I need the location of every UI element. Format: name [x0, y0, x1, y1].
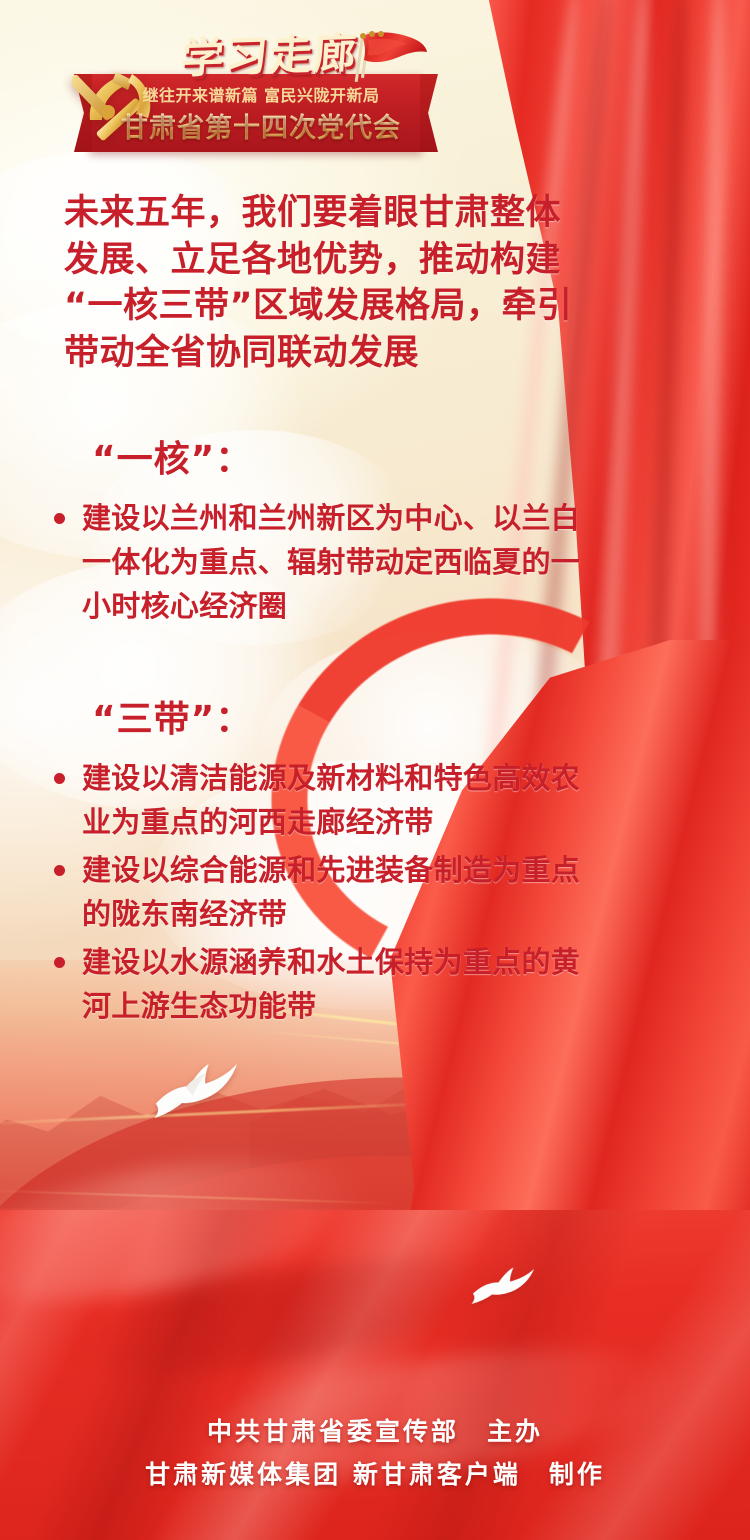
satin-shadow [56, 1235, 524, 1396]
footer-line-sponsor: 中共甘肃省委宣传部 主办 [0, 1410, 750, 1453]
section-title: “三带”： [92, 690, 750, 742]
list-item: 建设以水源涵养和水土保持为重点的黄河上游生态功能带 [40, 940, 605, 1028]
section-one-core: “一核”： 建设以兰州和兰州新区为中心、以兰白一体化为重点、辐射带动定西临夏的一… [0, 430, 750, 632]
list-item: 建设以综合能源和先进装备制造为重点的陇东南经济带 [40, 848, 605, 936]
footer: 中共甘肃省委宣传部 主办 甘肃新媒体集团 新甘肃客户端 制作 [0, 1410, 750, 1496]
poster-root: 学习走廊 继往开来谱新篇 富民兴陇开新局 甘肃省第十四次党代会 [0, 0, 750, 1540]
header-subtitle-line2: 甘肃省第十四次党代会 [106, 106, 416, 145]
list-item: 建设以兰州和兰州新区为中心、以兰白一体化为重点、辐射带动定西临夏的一小时核心经济… [40, 496, 605, 628]
list-item: 建设以清洁能源及新材料和特色高效农业为重点的河西走廊经济带 [40, 756, 605, 844]
header-subtitle-line1: 继往开来谱新篇 富民兴陇开新局 [116, 82, 406, 106]
section-title: “一核”： [92, 430, 750, 482]
section-bullet-list: 建设以兰州和兰州新区为中心、以兰白一体化为重点、辐射带动定西临夏的一小时核心经济… [0, 496, 750, 628]
red-flag-icon [350, 30, 428, 88]
headline-text: 未来五年，我们要着眼甘肃整体发展、立足各地优势，推动构建“一核三带”区域发展格局… [64, 190, 584, 376]
section-three-belts: “三带”： 建设以清洁能源及新材料和特色高效农业为重点的河西走廊经济带 建设以综… [0, 690, 750, 1032]
header-badge: 学习走廊 继往开来谱新篇 富民兴陇开新局 甘肃省第十四次党代会 [78, 26, 458, 166]
section-bullet-list: 建设以清洁能源及新材料和特色高效农业为重点的河西走廊经济带 建设以综合能源和先进… [0, 756, 750, 1028]
calligraphy-title: 学习走廊 [180, 19, 361, 86]
footer-line-producer: 甘肃新媒体集团 新甘肃客户端 制作 [0, 1453, 750, 1496]
